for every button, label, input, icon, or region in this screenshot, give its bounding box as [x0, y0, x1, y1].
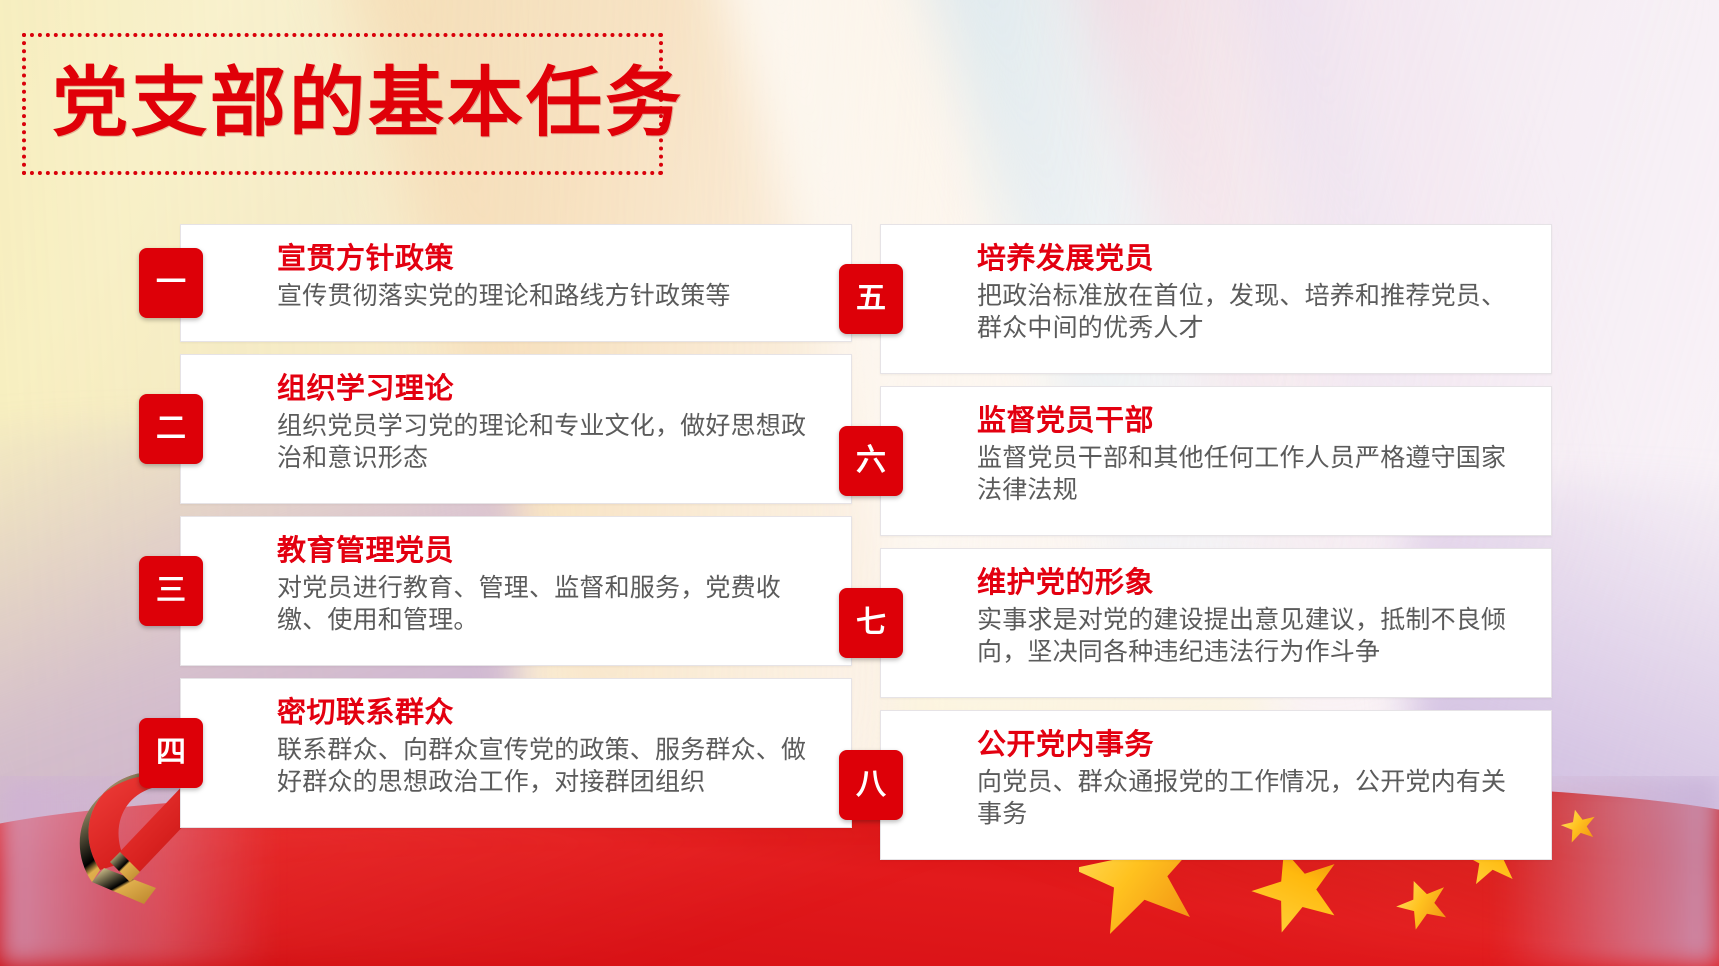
- task-card-5[interactable]: 五 培养发展党员 把政治标准放在首位，发现、培养和推荐党员、群众中间的优秀人才: [880, 224, 1552, 374]
- task-card-8[interactable]: 八 公开党内事务 向党员、群众通报党的工作情况，公开党内有关事务: [880, 710, 1552, 860]
- task-badge-7: 七: [839, 588, 903, 658]
- task-title-5: 培养发展党员: [977, 243, 1525, 276]
- task-title-6: 监督党员干部: [977, 405, 1525, 438]
- task-body-3: 对党员进行教育、管理、监督和服务，党费收缴、使用和管理。: [277, 572, 825, 636]
- task-card-6[interactable]: 六 监督党员干部 监督党员干部和其他任何工作人员严格遵守国家法律法规: [880, 386, 1552, 536]
- task-body-5: 把政治标准放在首位，发现、培养和推荐党员、群众中间的优秀人才: [977, 280, 1525, 344]
- task-badge-5: 五: [839, 264, 903, 334]
- task-title-3: 教育管理党员: [277, 535, 825, 568]
- task-title-1: 宣贯方针政策: [277, 243, 825, 276]
- task-body-6: 监督党员干部和其他任何工作人员严格遵守国家法律法规: [977, 442, 1525, 506]
- task-card-2[interactable]: 二 组织学习理论 组织党员学习党的理论和专业文化，做好思想政治和意识形态: [180, 354, 852, 504]
- task-title-4: 密切联系群众: [277, 697, 825, 730]
- task-title-7: 维护党的形象: [977, 567, 1525, 600]
- task-card-7[interactable]: 七 维护党的形象 实事求是对党的建设提出意见建议，抵制不良倾向，坚决同各种违纪违…: [880, 548, 1552, 698]
- task-badge-8: 八: [839, 750, 903, 820]
- task-title-8: 公开党内事务: [977, 729, 1525, 762]
- task-body-4: 联系群众、向群众宣传党的政策、服务群众、做好群众的思想政治工作，对接群团组织: [277, 734, 825, 798]
- task-column-right: 五 培养发展党员 把政治标准放在首位，发现、培养和推荐党员、群众中间的优秀人才 …: [880, 224, 1552, 872]
- task-badge-6: 六: [839, 426, 903, 496]
- task-title-2: 组织学习理论: [277, 373, 825, 406]
- slide-root: 党支部的基本任务 一 宣贯方针政策 宣传贯彻落实党的理论和路线方针政策等 二 组…: [0, 0, 1719, 966]
- task-badge-4: 四: [139, 718, 203, 788]
- task-column-left: 一 宣贯方针政策 宣传贯彻落实党的理论和路线方针政策等 二 组织学习理论 组织党…: [180, 224, 852, 840]
- task-badge-1: 一: [139, 248, 203, 318]
- task-badge-2: 二: [139, 394, 203, 464]
- task-card-1[interactable]: 一 宣贯方针政策 宣传贯彻落实党的理论和路线方针政策等: [180, 224, 852, 342]
- task-card-3[interactable]: 三 教育管理党员 对党员进行教育、管理、监督和服务，党费收缴、使用和管理。: [180, 516, 852, 666]
- task-body-7: 实事求是对党的建设提出意见建议，抵制不良倾向，坚决同各种违纪违法行为作斗争: [977, 604, 1525, 668]
- task-body-1: 宣传贯彻落实党的理论和路线方针政策等: [277, 280, 825, 312]
- task-columns: 一 宣贯方针政策 宣传贯彻落实党的理论和路线方针政策等 二 组织学习理论 组织党…: [0, 0, 1719, 966]
- task-card-4[interactable]: 四 密切联系群众 联系群众、向群众宣传党的政策、服务群众、做好群众的思想政治工作…: [180, 678, 852, 828]
- task-badge-3: 三: [139, 556, 203, 626]
- task-body-8: 向党员、群众通报党的工作情况，公开党内有关事务: [977, 766, 1525, 830]
- task-body-2: 组织党员学习党的理论和专业文化，做好思想政治和意识形态: [277, 410, 825, 474]
